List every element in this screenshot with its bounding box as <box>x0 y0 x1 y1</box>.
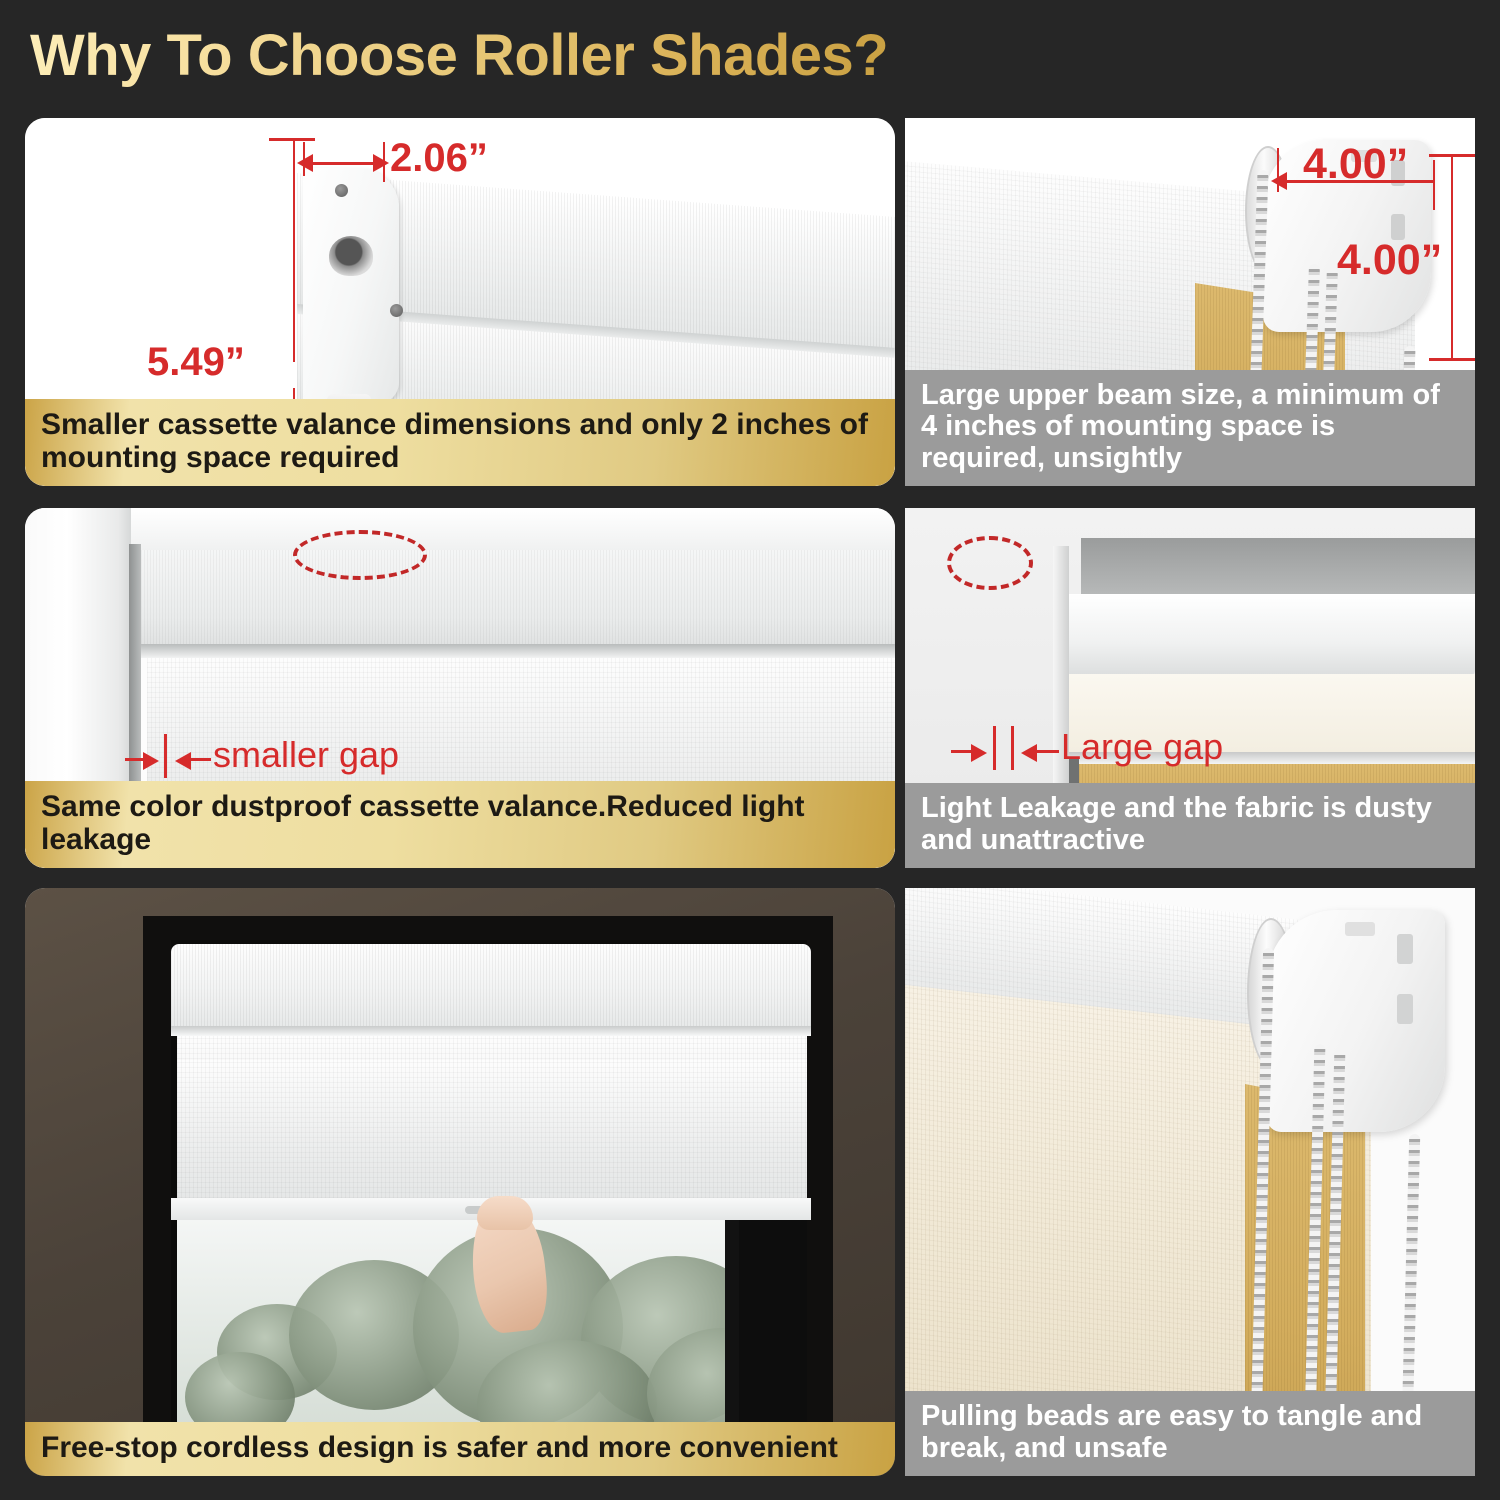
width-dimension-label: 2.06” <box>390 136 488 181</box>
gap-lead-left <box>951 750 975 753</box>
screw-icon <box>335 184 348 197</box>
clutch-knob-icon <box>329 236 373 276</box>
gap-label: Large gap <box>1061 726 1223 768</box>
highlight-ellipse-icon <box>947 536 1033 590</box>
screw-icon <box>390 304 403 317</box>
dim-arrowhead-right <box>373 154 389 172</box>
dim-tick-top <box>269 138 315 141</box>
height-dimension-label: 4.00” <box>1337 236 1442 285</box>
gap-tick <box>1011 726 1014 770</box>
gap-arrow-right <box>143 752 159 770</box>
gap-tick <box>993 726 996 770</box>
gap-tick <box>164 734 167 778</box>
panel-5-caption: Free-stop cordless design is safer and m… <box>25 1422 895 1476</box>
valance-front <box>1065 594 1475 676</box>
panel-3-caption: Same color dustproof cassette valance.Re… <box>25 781 895 868</box>
dim-tick-top <box>1429 154 1475 157</box>
bracket-slot-icon <box>1397 934 1413 964</box>
panel-grid: 2.06” 5.49” Smaller cassette valance dim… <box>0 0 1500 1500</box>
cassette-valance <box>171 944 811 1030</box>
cassette-end-cap <box>303 168 399 404</box>
clutch-bracket <box>1267 910 1445 1132</box>
panel-smaller-cassette: 2.06” 5.49” Smaller cassette valance dim… <box>25 118 895 486</box>
panel-smaller-gap: smaller gap Same color dustproof cassett… <box>25 508 895 868</box>
width-dimension-label: 4.00” <box>1303 140 1408 189</box>
panel-6-photo <box>905 888 1475 1476</box>
cassette-valance <box>141 550 895 646</box>
panel-1-caption: Smaller cassette valance dimensions and … <box>25 399 895 486</box>
gap-lead-right <box>1037 750 1059 753</box>
cassette-lip <box>171 1026 811 1036</box>
cassette-rail <box>141 644 895 658</box>
bracket-slot-icon <box>1397 994 1413 1024</box>
panel-6-caption: Pulling beads are easy to tangle and bre… <box>905 1391 1475 1476</box>
gap-arrow-left <box>1021 744 1037 762</box>
panel-pulling-beads: Pulling beads are easy to tangle and bre… <box>905 888 1475 1476</box>
dim-tick-right <box>1433 160 1435 210</box>
panel-large-beam: 4.00” 4.00” Large upper beam size, a min… <box>905 118 1475 486</box>
gap-lead-right <box>189 758 211 761</box>
dim-tick-bottom <box>1429 358 1475 361</box>
panel-cordless-design: Free-stop cordless design is safer and m… <box>25 888 895 1476</box>
panel-5-photo <box>25 888 895 1476</box>
bracket-slot-icon <box>1345 922 1375 936</box>
gap-arrow-left <box>175 752 191 770</box>
gap-lead-left <box>125 758 149 761</box>
panel-2-caption: Large upper beam size, a minimum of 4 in… <box>905 370 1475 486</box>
dim-arrowhead-left <box>1271 172 1287 190</box>
window-frame-top <box>115 508 895 550</box>
upper-beam-shadow <box>1081 538 1475 598</box>
dim-line-height <box>1451 154 1453 360</box>
highlight-ellipse-icon <box>293 530 427 580</box>
dim-line-height <box>293 138 295 362</box>
panel-4-caption: Light Leakage and the fabric is dusty an… <box>905 783 1475 868</box>
hand-fingers <box>477 1196 533 1230</box>
height-dimension-label: 5.49” <box>147 340 245 385</box>
infographic-root: Why To Choose Roller Shades? <box>0 0 1500 1500</box>
gap-label: smaller gap <box>213 734 399 776</box>
dim-arrowhead-left <box>297 154 313 172</box>
gap-arrow-right <box>971 744 987 762</box>
panel-large-gap: Large gap Light Leakage and the fabric i… <box>905 508 1475 868</box>
shade-fabric-lower <box>177 1060 807 1208</box>
